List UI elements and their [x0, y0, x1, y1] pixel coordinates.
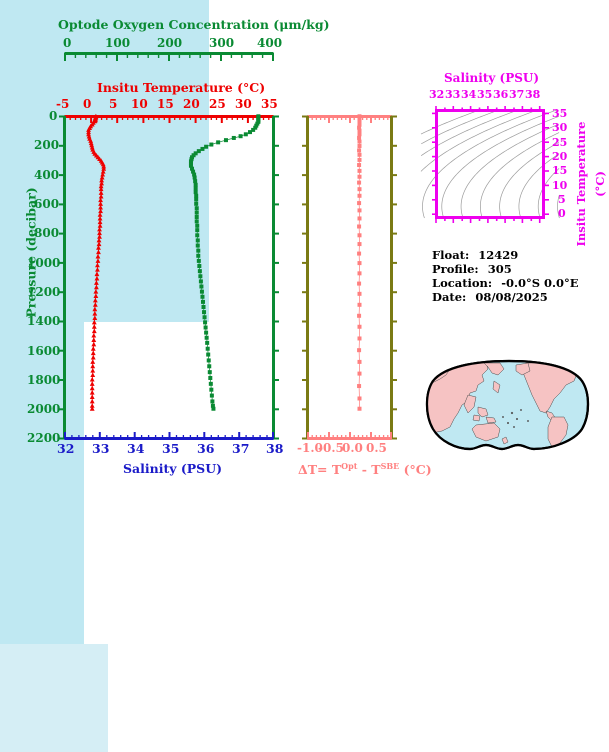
info-label-date: Date:: [432, 290, 466, 304]
pressure-tick-2200: 2200: [27, 431, 60, 445]
sal-tick-38: 38: [266, 441, 283, 456]
ts-temp-20: 20: [552, 150, 567, 163]
ts-diagram-plot[interactable]: [0, 644, 108, 752]
ts-temp-30: 30: [552, 121, 567, 134]
temp-tick-25: 25: [209, 97, 226, 111]
info-row-location: Location: -0.0°S 0.0°E: [432, 276, 579, 290]
pressure-tick-400: 400: [34, 168, 59, 182]
ts-sal-36: 36: [493, 88, 508, 101]
dt-tick--0.5: -0.5: [318, 441, 344, 455]
delta-t-prefix: ΔT= T: [298, 462, 341, 477]
temperature-axis-title: Insitu Temperature (°C): [97, 80, 265, 95]
temp-tick-10: 10: [131, 97, 148, 111]
temp-tick-15: 15: [157, 97, 174, 111]
info-value-float: 12429: [478, 248, 518, 262]
info-row-date: Date: 08/08/2025: [432, 290, 579, 304]
temp-tick--5: -5: [56, 97, 69, 111]
delta-t-axis-title: ΔT= TOpt - TSBE (°C): [298, 461, 432, 477]
salinity-axis-title: Salinity (PSU): [123, 461, 222, 476]
oxygen-tick-0: 0: [63, 36, 71, 50]
info-label-float: Float:: [432, 248, 469, 262]
info-value-date: 08/08/2025: [475, 290, 547, 304]
oxygen-axis-ticklabels: 0 100 200 300 400: [64, 36, 276, 52]
sal-tick-36: 36: [197, 441, 214, 456]
delta-t-series: [307, 116, 392, 439]
sal-tick-32: 32: [57, 441, 74, 456]
ts-sal-33: 33: [445, 88, 460, 101]
pressure-tick-0: 0: [49, 109, 57, 123]
ts-sal-38: 38: [525, 88, 540, 101]
float-info-block: Float: 12429 Profile: 305 Location: -0.0…: [432, 248, 579, 304]
main-profile-series: [64, 116, 274, 439]
dt-tick-0.0: 0.0: [342, 441, 363, 455]
oxygen-tick-400: 400: [257, 36, 282, 50]
info-row-float: Float: 12429: [432, 248, 579, 262]
temp-tick-30: 30: [235, 97, 252, 111]
pressure-tick-1600: 1600: [27, 344, 60, 358]
oxygen-tick-100: 100: [105, 36, 130, 50]
delta-t-mid: - T: [357, 462, 380, 477]
temp-tick-5: 5: [109, 97, 117, 111]
oxygen-tick-200: 200: [157, 36, 182, 50]
ts-temp-25: 25: [552, 136, 567, 149]
sal-tick-33: 33: [92, 441, 109, 456]
ts-temp-5: 5: [558, 193, 566, 206]
ts-sal-35: 35: [477, 88, 492, 101]
sal-tick-35: 35: [162, 441, 179, 456]
info-value-profile: 305: [488, 262, 512, 276]
temp-tick-20: 20: [183, 97, 200, 111]
sal-tick-37: 37: [232, 441, 249, 456]
pressure-tick-1800: 1800: [27, 373, 60, 387]
temp-tick-0: 0: [83, 97, 91, 111]
ts-plot-frame: [430, 104, 556, 230]
ts-sal-32: 32: [429, 88, 444, 101]
info-label-profile: Profile:: [432, 262, 479, 276]
info-value-location: -0.0°S 0.0°E: [501, 276, 578, 290]
oxygen-tick-300: 300: [209, 36, 234, 50]
pressure-tick-2000: 2000: [27, 402, 60, 416]
ts-salinity-title: Salinity (PSU): [444, 71, 539, 85]
ts-temperature-title: Insitu Temperature (°C): [570, 119, 608, 249]
temp-tick-35: 35: [261, 97, 278, 111]
ts-temp-35: 35: [552, 107, 567, 120]
delta-t-sup-opt: Opt: [341, 461, 357, 471]
ts-sal-37: 37: [509, 88, 524, 101]
pressure-axis-title: Pressure (decibar): [21, 183, 40, 323]
pressure-tick-200: 200: [34, 138, 59, 152]
world-map-icon: [424, 355, 594, 465]
oxygen-axis-title: Optode Oxygen Concentration (μm/kg): [58, 17, 329, 32]
info-label-location: Location:: [432, 276, 492, 290]
ts-temp-0: 0: [558, 207, 566, 220]
ts-temp-15: 15: [552, 164, 567, 177]
dt-tick-0.5: 0.5: [366, 441, 387, 455]
ts-temp-10: 10: [552, 179, 567, 192]
sal-tick-34: 34: [127, 441, 144, 456]
oxygen-axis-ruler: [64, 52, 276, 64]
delta-t-sup-sbe: SBE: [381, 461, 400, 471]
ts-sal-34: 34: [461, 88, 476, 101]
info-row-profile: Profile: 305: [432, 262, 579, 276]
